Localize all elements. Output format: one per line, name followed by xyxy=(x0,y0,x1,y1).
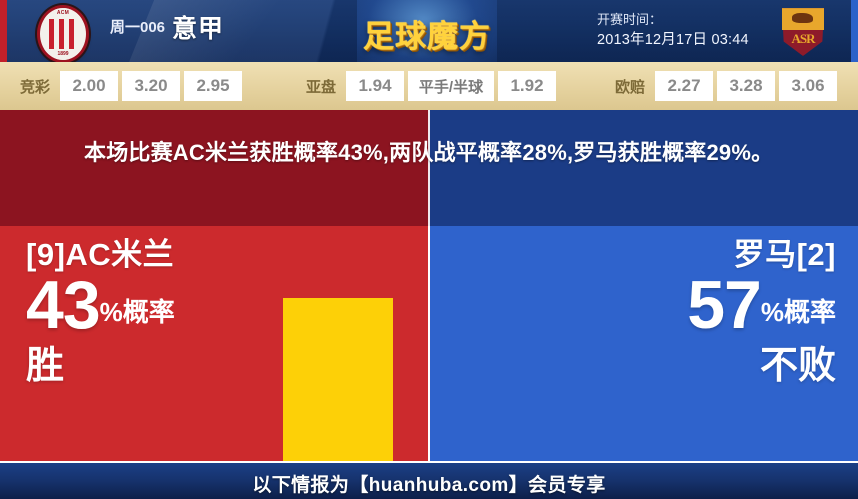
left-red-edge-strip xyxy=(0,0,7,62)
roma-wolf-icon xyxy=(792,13,812,23)
as-roma-crest-icon: ASR xyxy=(781,4,825,56)
right-blue-edge-strip xyxy=(851,0,858,62)
odds-group-yapan: 亚盘 1.94 平手/半球 1.92 xyxy=(300,71,556,101)
league-name: 意甲 xyxy=(172,9,224,45)
away-probability-unit: %概率 xyxy=(761,290,836,338)
footer-text: 以下情报为【huanhuba.com】会员专享 xyxy=(0,470,858,497)
kickoff-label: 开赛时间： xyxy=(597,9,749,30)
handicap-cell-away[interactable]: 1.92 xyxy=(498,71,556,101)
ac-milan-crest-icon: ACM 1899 xyxy=(37,5,89,62)
home-probability-bar xyxy=(283,298,393,461)
description-strip: 本场比赛AC米兰获胜概率43%,两队战平概率28%,罗马获胜概率29%。 xyxy=(0,110,858,226)
description-text: 本场比赛AC米兰获胜概率43%,两队战平概率28%,罗马获胜概率29%。 xyxy=(84,135,774,170)
euro-cell-draw[interactable]: 3.28 xyxy=(717,71,775,101)
odds-group-jingcai: 竞彩 2.00 3.20 2.95 xyxy=(14,71,242,101)
odds-group-label: 亚盘 xyxy=(300,76,342,97)
footer-bar: 以下情报为【huanhuba.com】会员专享 xyxy=(0,461,858,499)
home-probability-value: 43 xyxy=(26,272,100,338)
header-bar: ACM 1899 周一006 意甲 足球魔方 开赛时间： 2013年12月17日… xyxy=(0,0,858,62)
round-label: 周一006 xyxy=(110,16,165,37)
odds-group-oupei: 欧赔 2.27 3.28 3.06 xyxy=(609,71,837,101)
away-team-block: 罗马[2] 57 %概率 不败 xyxy=(687,236,836,390)
odds-cell-away[interactable]: 2.95 xyxy=(184,71,242,101)
ac-milan-crest-bottom-text: 1899 xyxy=(40,49,86,60)
home-verdict: 胜 xyxy=(26,342,175,390)
home-team-panel: [9]AC米兰 43 %概率 胜 xyxy=(0,226,428,461)
panel-divider xyxy=(428,226,430,461)
away-team-panel: 罗马[2] 57 %概率 不败 xyxy=(430,226,858,461)
handicap-cell-line[interactable]: 平手/半球 xyxy=(408,71,494,101)
away-verdict: 不败 xyxy=(687,342,836,390)
odds-cell-draw[interactable]: 3.20 xyxy=(122,71,180,101)
away-probability-value: 57 xyxy=(687,272,761,338)
ac-milan-crest-top-text: ACM xyxy=(40,8,86,19)
probability-chart: [9]AC米兰 43 %概率 胜 罗马[2] 57 %概率 不败 xyxy=(0,226,858,461)
brand-text: 足球魔方 xyxy=(357,11,497,56)
brand-logo: 足球魔方 xyxy=(357,0,497,62)
home-probability-unit: %概率 xyxy=(100,290,175,338)
odds-cell-home[interactable]: 2.00 xyxy=(60,71,118,101)
handicap-cell-home[interactable]: 1.94 xyxy=(346,71,404,101)
match-probability-infographic: ACM 1899 周一006 意甲 足球魔方 开赛时间： 2013年12月17日… xyxy=(0,0,858,499)
roma-crest-text: ASR xyxy=(781,31,825,47)
home-team-block: [9]AC米兰 43 %概率 胜 xyxy=(26,236,175,390)
odds-group-label: 欧赔 xyxy=(609,76,651,97)
kickoff-block: 开赛时间： 2013年12月17日 03:44 xyxy=(597,9,749,51)
odds-bar: 竞彩 2.00 3.20 2.95 亚盘 1.94 平手/半球 1.92 欧赔 … xyxy=(0,62,858,110)
odds-group-label: 竞彩 xyxy=(14,76,56,97)
euro-cell-home[interactable]: 2.27 xyxy=(655,71,713,101)
euro-cell-away[interactable]: 3.06 xyxy=(779,71,837,101)
kickoff-time: 2013年12月17日 03:44 xyxy=(597,30,749,51)
